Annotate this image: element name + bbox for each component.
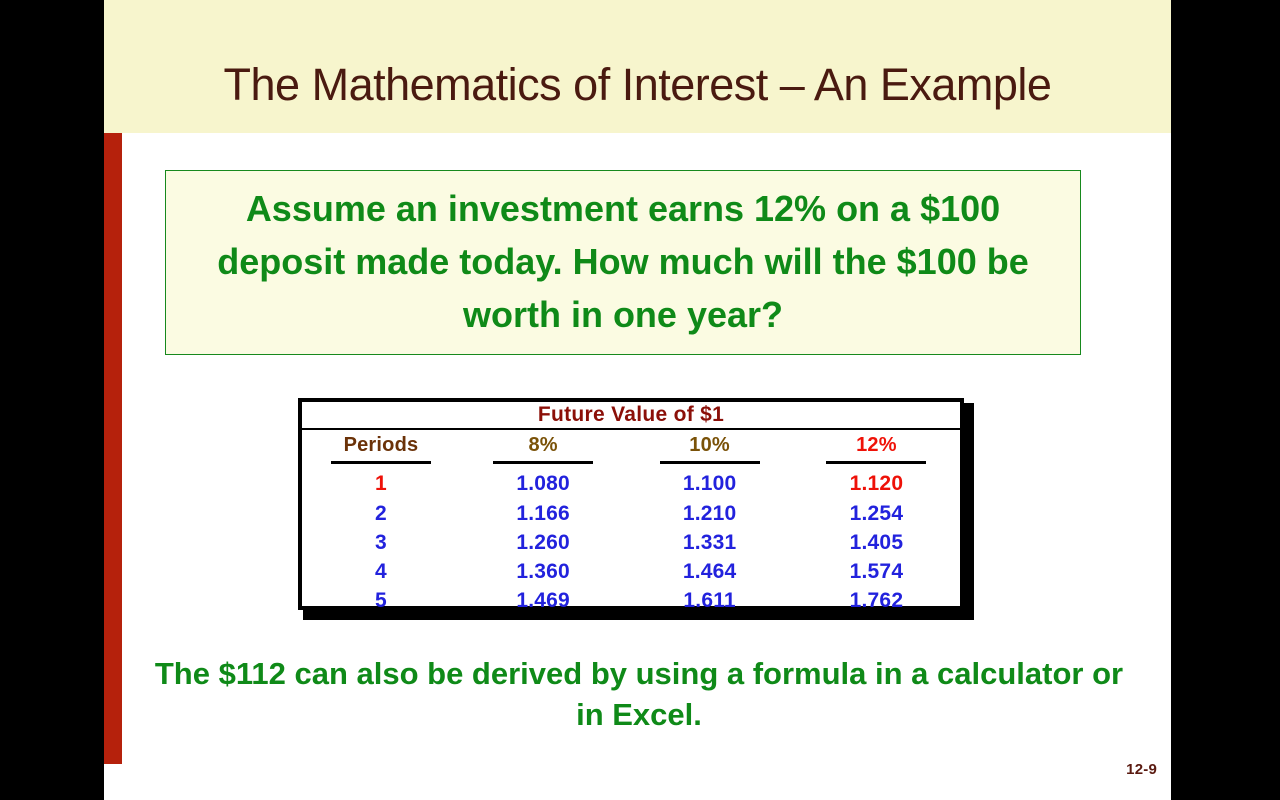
- table-title-row: Future Value of $1: [302, 402, 960, 429]
- column-header-10pct-label: 10%: [660, 430, 760, 464]
- cell-r3-12pct: 1.405: [793, 528, 960, 557]
- cell-r1-10pct: 1.100: [626, 464, 792, 499]
- future-value-grid: Future Value of $1 Periods 8% 10% 12% 1 …: [302, 402, 960, 615]
- column-header-12pct-label: 12%: [826, 430, 926, 464]
- cell-period-2: 2: [302, 499, 460, 528]
- table-row: 2 1.166 1.210 1.254: [302, 499, 960, 528]
- cell-r2-8pct: 1.166: [460, 499, 626, 528]
- table-title: Future Value of $1: [302, 402, 960, 429]
- slide-stage: The Mathematics of Interest – An Example…: [0, 0, 1280, 800]
- cell-r4-10pct: 1.464: [626, 557, 792, 586]
- cell-r5-8pct: 1.469: [460, 586, 626, 615]
- accent-bar: [104, 133, 122, 764]
- table-row: 1 1.080 1.100 1.120: [302, 464, 960, 499]
- footnote-text: The $112 can also be derived by using a …: [144, 653, 1134, 735]
- column-header-periods-label: Periods: [331, 430, 431, 464]
- cell-r5-10pct: 1.611: [626, 586, 792, 615]
- cell-r3-10pct: 1.331: [626, 528, 792, 557]
- callout-text: Assume an investment earns 12% on a $100…: [166, 183, 1080, 342]
- callout-box: Assume an investment earns 12% on a $100…: [165, 170, 1081, 355]
- future-value-table: Future Value of $1 Periods 8% 10% 12% 1 …: [298, 398, 974, 620]
- table-header-row: Periods 8% 10% 12%: [302, 429, 960, 464]
- cell-r3-8pct: 1.260: [460, 528, 626, 557]
- cell-r2-12pct: 1.254: [793, 499, 960, 528]
- cell-period-1: 1: [302, 464, 460, 499]
- cell-period-4: 4: [302, 557, 460, 586]
- cell-r4-8pct: 1.360: [460, 557, 626, 586]
- cell-r2-10pct: 1.210: [626, 499, 792, 528]
- table-row: 5 1.469 1.611 1.762: [302, 586, 960, 615]
- column-header-periods: Periods: [302, 429, 460, 464]
- page-title: The Mathematics of Interest – An Example: [104, 62, 1171, 107]
- cell-r1-12pct: 1.120: [793, 464, 960, 499]
- slide-canvas: The Mathematics of Interest – An Example…: [104, 0, 1171, 800]
- cell-period-3: 3: [302, 528, 460, 557]
- column-header-8pct-label: 8%: [493, 430, 593, 464]
- cell-r1-8pct: 1.080: [460, 464, 626, 499]
- title-banner: The Mathematics of Interest – An Example: [104, 0, 1171, 133]
- cell-period-5: 5: [302, 586, 460, 615]
- cell-r5-12pct: 1.762: [793, 586, 960, 615]
- cell-r4-12pct: 1.574: [793, 557, 960, 586]
- column-header-8pct: 8%: [460, 429, 626, 464]
- column-header-12pct: 12%: [793, 429, 960, 464]
- table-row: 3 1.260 1.331 1.405: [302, 528, 960, 557]
- slide-number: 12-9: [1126, 761, 1157, 778]
- table-row: 4 1.360 1.464 1.574: [302, 557, 960, 586]
- column-header-10pct: 10%: [626, 429, 792, 464]
- table-frame: Future Value of $1 Periods 8% 10% 12% 1 …: [298, 398, 964, 610]
